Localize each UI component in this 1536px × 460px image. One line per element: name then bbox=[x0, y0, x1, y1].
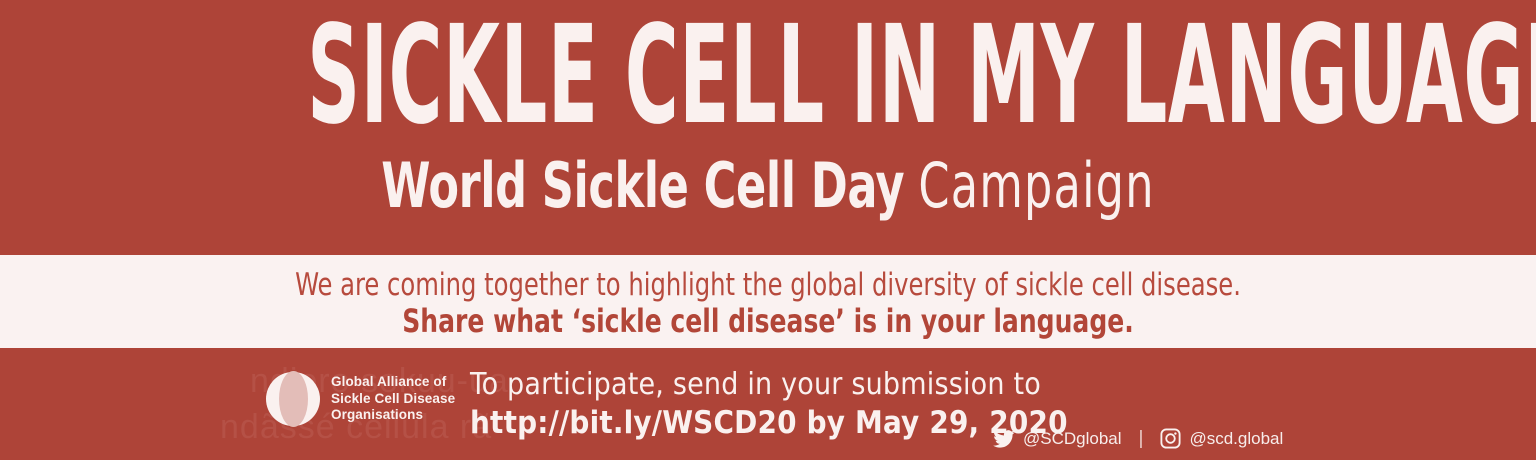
cta-submission-link[interactable]: http://bit.ly/WSCD20 by May 29, 2020 bbox=[470, 404, 1068, 442]
organisation-name: Global Alliance of Sickle Cell Disease O… bbox=[331, 374, 455, 424]
twitter-handle: @SCDglobal bbox=[1023, 429, 1122, 449]
campaign-banner: SICKLE CELL IN MY LANGUAGE World Sickle … bbox=[0, 0, 1536, 460]
call-to-action: To participate, send in your submission … bbox=[470, 366, 1068, 442]
banner-message-band: We are coming together to highlight the … bbox=[0, 255, 1536, 348]
banner-subtitle: World Sickle Cell Day Campaign bbox=[154, 155, 1383, 217]
org-name-line-1: Global Alliance of bbox=[331, 374, 455, 391]
org-name-line-3: Organisations bbox=[331, 407, 455, 424]
twitter-icon bbox=[993, 430, 1015, 448]
instagram-handle: @scd.global bbox=[1189, 429, 1283, 449]
subtitle-bold-part: World Sickle Cell Day bbox=[381, 149, 904, 222]
social-link-instagram[interactable]: @scd.global bbox=[1160, 428, 1283, 449]
org-name-line-2: Sickle Cell Disease bbox=[331, 391, 455, 408]
subtitle-light-part: Campaign bbox=[918, 149, 1154, 222]
message-line-1: We are coming together to highlight the … bbox=[100, 268, 1436, 302]
message-line-2: Share what ‘sickle cell disease’ is in y… bbox=[100, 304, 1436, 338]
instagram-icon bbox=[1160, 428, 1181, 449]
social-separator: | bbox=[1131, 429, 1152, 449]
organisation-logo-lockup: Global Alliance of Sickle Cell Disease O… bbox=[266, 372, 455, 426]
page-title: SICKLE CELL IN MY LANGUAGE bbox=[307, 12, 1229, 140]
banner-header-band: SICKLE CELL IN MY LANGUAGE World Sickle … bbox=[0, 0, 1536, 255]
cta-line-1: To participate, send in your submission … bbox=[470, 366, 1068, 404]
logo-lens-shape bbox=[279, 371, 308, 427]
social-handles: @SCDglobal | @scd.global bbox=[993, 428, 1283, 449]
gasco-circle-lens-logo-icon bbox=[266, 372, 320, 426]
social-link-twitter[interactable]: @SCDglobal bbox=[993, 429, 1122, 449]
